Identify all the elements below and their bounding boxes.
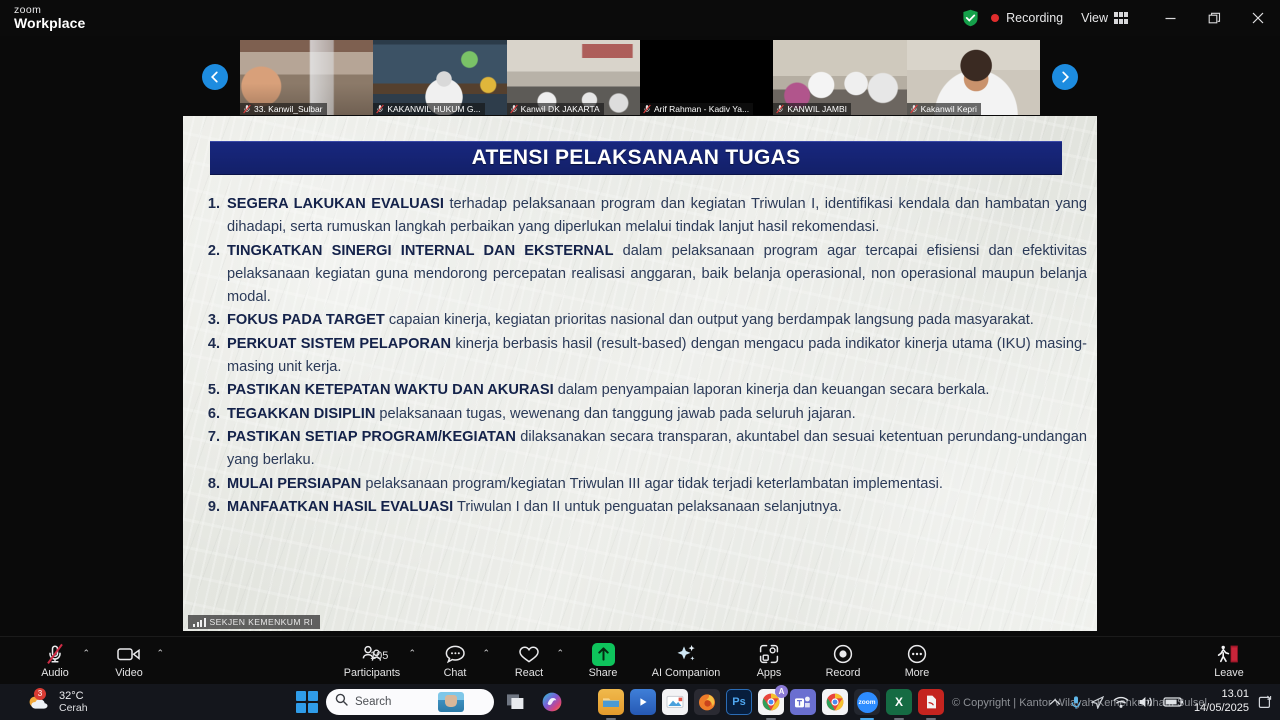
list-item-number: 6. bbox=[197, 403, 227, 426]
list-item-number: 1. bbox=[197, 193, 227, 216]
heart-icon bbox=[518, 643, 540, 665]
search-icon bbox=[335, 693, 348, 711]
window-titlebar: zoom Workplace Recording View bbox=[0, 0, 1280, 36]
microphone-muted-icon bbox=[643, 104, 651, 114]
share-screen-button[interactable]: Share bbox=[566, 637, 640, 685]
participant-name: Arif Rahman - Kadiv Ya... bbox=[654, 104, 749, 114]
list-item: 4. PERKUAT SISTEM PELAPORAN kinerja berb… bbox=[197, 333, 1087, 380]
ai-companion-button[interactable]: AI Companion bbox=[640, 637, 732, 685]
react-button[interactable]: React ⌃ bbox=[492, 637, 566, 685]
notification-bell-icon[interactable] bbox=[1258, 695, 1272, 709]
participant-tile[interactable]: 33. Kanwil_Sulbar bbox=[240, 40, 373, 115]
participant-filmstrip: 33. Kanwil_Sulbar KAKANWIL HUKUM G... bbox=[240, 40, 1040, 115]
meeting-toolbar: Audio ⌃ Video ⌃ bbox=[0, 636, 1280, 684]
video-label: Video bbox=[115, 667, 142, 679]
list-item: 3. FOKUS PADA TARGET capaian kinerja, ke… bbox=[197, 309, 1087, 332]
list-item-number: 8. bbox=[197, 473, 227, 496]
participant-name-badge: Arif Rahman - Kadiv Ya... bbox=[640, 103, 753, 115]
react-label: React bbox=[515, 667, 543, 679]
clock-time: 13.01 bbox=[1194, 688, 1249, 702]
list-item-text: TINGKATKAN SINERGI INTERNAL DAN EKSTERNA… bbox=[227, 240, 1087, 310]
participant-tile[interactable]: KAKANWIL HUKUM G... bbox=[373, 40, 506, 115]
participants-caret-icon[interactable]: ⌃ bbox=[408, 649, 416, 658]
taskbar-center: Search bbox=[296, 684, 566, 720]
list-item-text: SEGERA LAKUKAN EVALUASI terhadap pelaksa… bbox=[227, 193, 1087, 240]
participant-name: 33. Kanwil_Sulbar bbox=[254, 104, 323, 114]
list-item-rest: dalam penyampaian laporan kinerja dan ke… bbox=[554, 382, 990, 398]
atensi-list: 1. SEGERA LAKUKAN EVALUASI terhadap pela… bbox=[197, 193, 1087, 519]
sun-cloud-icon: 3 bbox=[26, 691, 52, 713]
share-screen-icon bbox=[592, 643, 615, 666]
search-input[interactable]: Search bbox=[326, 689, 494, 715]
record-label: Record bbox=[826, 667, 861, 679]
task-view-icon[interactable] bbox=[502, 688, 530, 716]
leave-label: Leave bbox=[1214, 667, 1243, 679]
windows-start-icon[interactable] bbox=[296, 691, 318, 713]
grid-view-icon bbox=[1114, 12, 1128, 24]
restore-window-button[interactable] bbox=[1192, 0, 1236, 36]
taskbar-app-photos[interactable] bbox=[662, 689, 688, 715]
list-item-bold: PERKUAT SISTEM PELAPORAN bbox=[227, 336, 451, 352]
microphone-muted-icon bbox=[776, 104, 784, 114]
participant-name-badge: KANWIL JAMBI bbox=[773, 103, 851, 115]
list-item-rest: pelaksanaan tugas, wewenang dan tanggung… bbox=[375, 406, 855, 422]
windows-taskbar: 3 32°C Cerah Search bbox=[0, 684, 1280, 720]
weather-condition: Cerah bbox=[59, 702, 88, 714]
toolbar-center-group: 105 Participants ⌃ Chat ⌃ bbox=[326, 637, 954, 685]
microphone-muted-icon bbox=[376, 104, 384, 114]
participant-name-badge: 33. Kanwil_Sulbar bbox=[240, 103, 327, 115]
list-item: 9. MANFAATKAN HASIL EVALUASI Triwulan I … bbox=[197, 496, 1087, 519]
microphone-muted-icon bbox=[45, 643, 65, 665]
audio-label: Audio bbox=[41, 667, 69, 679]
taskbar-app-chrome-profile[interactable]: A bbox=[758, 689, 784, 715]
participant-name: Kanwil DK JAKARTA bbox=[521, 104, 600, 114]
chat-button[interactable]: Chat ⌃ bbox=[418, 637, 492, 685]
slide-footer-label: SEKJEN KEMENKUM RI bbox=[210, 617, 314, 627]
participant-name-badge: KAKANWIL HUKUM G... bbox=[373, 103, 484, 115]
leave-meeting-icon bbox=[1217, 643, 1241, 665]
taskbar-app-microsoft-excel[interactable]: X bbox=[886, 689, 912, 715]
list-item-rest: pelaksanaan program/kegiatan Triwulan II… bbox=[361, 476, 943, 492]
participant-name: KAKANWIL HUKUM G... bbox=[387, 104, 480, 114]
participant-tile[interactable]: Kanwil DK JAKARTA bbox=[507, 40, 640, 115]
taskbar-app-microsoft-teams[interactable] bbox=[790, 689, 816, 715]
taskbar-app-zoom[interactable]: zoom bbox=[854, 689, 880, 715]
location-icon[interactable] bbox=[1091, 696, 1104, 709]
more-dots-icon bbox=[907, 643, 927, 665]
audio-button[interactable]: Audio ⌃ bbox=[18, 637, 92, 685]
microphone-muted-icon bbox=[243, 104, 251, 114]
microphone-icon[interactable] bbox=[1070, 695, 1082, 710]
shared-screen-area[interactable]: ATENSI PELAKSANAAN TUGAS 1. SEGERA LAKUK… bbox=[183, 116, 1097, 631]
profile-badge: A bbox=[775, 685, 788, 698]
participants-count: 105 bbox=[370, 650, 388, 662]
zoom-glyph: zoom bbox=[857, 692, 878, 713]
chat-label: Chat bbox=[444, 667, 467, 679]
list-item-bold: MANFAATKAN HASIL EVALUASI bbox=[227, 499, 453, 515]
taskbar-app-icons: Ps A bbox=[598, 684, 944, 720]
participant-name: Kakanwil Kepri bbox=[921, 104, 977, 114]
list-item-rest: capaian kinerja, kegiatan prioritas nasi… bbox=[385, 312, 1034, 328]
list-item-number: 9. bbox=[197, 496, 227, 519]
ai-companion-label: AI Companion bbox=[652, 667, 720, 679]
audio-caret-icon[interactable]: ⌃ bbox=[82, 649, 90, 658]
list-item-bold: TINGKATKAN SINERGI INTERNAL DAN EKSTERNA… bbox=[227, 243, 613, 259]
share-label: Share bbox=[589, 667, 618, 679]
apps-icon bbox=[759, 643, 779, 665]
sparkle-icon bbox=[675, 643, 697, 665]
search-highlight-thumbnail bbox=[438, 692, 464, 712]
participants-label: Participants bbox=[344, 667, 400, 679]
record-button[interactable]: Record bbox=[806, 637, 880, 685]
participant-name-badge: Kanwil DK JAKARTA bbox=[507, 103, 604, 115]
list-item-bold: TEGAKKAN DISIPLIN bbox=[227, 406, 375, 422]
list-item-text: MANFAATKAN HASIL EVALUASI Triwulan I dan… bbox=[227, 496, 1087, 519]
list-item-text: MULAI PERSIAPAN pelaksanaan program/kegi… bbox=[227, 473, 1087, 496]
slide-footer-badge: SEKJEN KEMENKUM RI bbox=[188, 615, 320, 629]
share-icon-wrap bbox=[592, 643, 615, 665]
taskbar-app-pdf-reader[interactable] bbox=[918, 689, 944, 715]
list-item-text: PERKUAT SISTEM PELAPORAN kinerja berbasi… bbox=[227, 333, 1087, 380]
zoom-brand: zoom Workplace bbox=[0, 5, 85, 31]
list-item-bold: PASTIKAN KETEPATAN WAKTU DAN AKURASI bbox=[227, 382, 554, 398]
search-placeholder: Search bbox=[355, 696, 391, 708]
chat-caret-icon[interactable]: ⌃ bbox=[482, 649, 490, 658]
list-item: 6. TEGAKKAN DISIPLIN pelaksanaan tugas, … bbox=[197, 403, 1087, 426]
list-item-bold: FOKUS PADA TARGET bbox=[227, 312, 385, 328]
view-button[interactable]: View bbox=[1081, 11, 1128, 25]
slide-body: 1. SEGERA LAKUKAN EVALUASI terhadap pela… bbox=[197, 193, 1087, 519]
participant-tile[interactable]: Kakanwil Kepri bbox=[907, 40, 1040, 115]
presentation-slide: ATENSI PELAKSANAAN TUGAS 1. SEGERA LAKUK… bbox=[183, 116, 1097, 631]
microphone-muted-icon bbox=[910, 104, 918, 114]
taskbar-app-firefox[interactable] bbox=[694, 689, 720, 715]
slide-title-bar: ATENSI PELAKSANAAN TUGAS bbox=[210, 141, 1062, 175]
weather-temperature: 32°C bbox=[59, 690, 88, 703]
list-item-rest: Triwulan I dan II untuk penguatan pelaks… bbox=[453, 499, 842, 515]
list-item-text: FOKUS PADA TARGET capaian kinerja, kegia… bbox=[227, 309, 1087, 332]
participant-tile[interactable]: Arif Rahman - Kadiv Ya... bbox=[640, 40, 773, 115]
video-caret-icon[interactable]: ⌃ bbox=[156, 649, 164, 658]
taskbar-app-media-player[interactable] bbox=[630, 689, 656, 715]
excel-glyph: X bbox=[895, 695, 903, 709]
list-item-bold: MULAI PERSIAPAN bbox=[227, 476, 361, 492]
system-tray: 13.01 14/05/2025 bbox=[1049, 684, 1272, 720]
taskbar-app-photoshop[interactable]: Ps bbox=[726, 689, 752, 715]
minimize-button[interactable] bbox=[1148, 0, 1192, 36]
shield-check-icon[interactable] bbox=[962, 9, 979, 27]
participant-name: KANWIL JAMBI bbox=[787, 104, 847, 114]
close-button[interactable] bbox=[1236, 0, 1280, 36]
zoom-meeting-window: zoom Workplace Recording View bbox=[0, 0, 1280, 720]
list-item-text: PASTIKAN KETEPATAN WAKTU DAN AKURASI dal… bbox=[227, 379, 1087, 402]
filmstrip-next-button[interactable] bbox=[1052, 64, 1078, 90]
list-item-number: 7. bbox=[197, 426, 227, 449]
list-item-text: PASTIKAN SETIAP PROGRAM/KEGIATAN dilaksa… bbox=[227, 426, 1087, 473]
list-item-number: 3. bbox=[197, 309, 227, 332]
microphone-muted-icon bbox=[510, 104, 518, 114]
record-icon bbox=[833, 643, 853, 665]
participant-tile[interactable]: KANWIL JAMBI bbox=[773, 40, 906, 115]
weather-text: 32°C Cerah bbox=[59, 690, 88, 715]
recording-dot-icon bbox=[991, 14, 999, 22]
clock-date: 14/05/2025 bbox=[1194, 702, 1249, 716]
list-item-bold: PASTIKAN SETIAP PROGRAM/KEGIATAN bbox=[227, 429, 516, 445]
signal-bars-icon bbox=[193, 618, 206, 627]
list-item-bold: SEGERA LAKUKAN EVALUASI bbox=[227, 196, 444, 212]
list-item-number: 2. bbox=[197, 240, 227, 263]
copilot-icon[interactable] bbox=[538, 688, 566, 716]
slide-title-text: ATENSI PELAKSANAAN TUGAS bbox=[472, 146, 801, 170]
video-camera-icon bbox=[117, 643, 141, 665]
video-button[interactable]: Video ⌃ bbox=[92, 637, 166, 685]
taskbar-clock[interactable]: 13.01 14/05/2025 bbox=[1194, 688, 1249, 716]
more-label: More bbox=[905, 667, 930, 679]
list-item: 5. PASTIKAN KETEPATAN WAKTU DAN AKURASI … bbox=[197, 379, 1087, 402]
list-item: 2. TINGKATKAN SINERGI INTERNAL DAN EKSTE… bbox=[197, 240, 1087, 310]
list-item: 8. MULAI PERSIAPAN pelaksanaan program/k… bbox=[197, 473, 1087, 496]
recording-label: Recording bbox=[1006, 11, 1063, 25]
brand-workplace-text: Workplace bbox=[14, 16, 85, 31]
react-caret-icon[interactable]: ⌃ bbox=[556, 649, 564, 658]
weather-widget[interactable]: 3 32°C Cerah bbox=[0, 690, 88, 715]
view-label: View bbox=[1081, 11, 1108, 25]
toolbar-left-group: Audio ⌃ Video ⌃ bbox=[18, 637, 166, 685]
list-item-number: 5. bbox=[197, 379, 227, 402]
toolbar-right-group: Leave bbox=[1192, 637, 1266, 685]
photoshop-glyph: Ps bbox=[732, 696, 745, 708]
apps-button[interactable]: Apps bbox=[732, 637, 806, 685]
participants-button[interactable]: 105 Participants ⌃ bbox=[326, 637, 418, 685]
recording-indicator[interactable]: Recording bbox=[991, 11, 1063, 25]
notification-badge: 3 bbox=[34, 688, 46, 700]
leave-meeting-button[interactable]: Leave bbox=[1192, 637, 1266, 685]
participant-name-badge: Kakanwil Kepri bbox=[907, 103, 981, 115]
list-item: 7. PASTIKAN SETIAP PROGRAM/KEGIATAN dila… bbox=[197, 426, 1087, 473]
hidden-icons-caret[interactable] bbox=[1049, 698, 1061, 707]
apps-label: Apps bbox=[757, 667, 782, 679]
speaker-icon[interactable] bbox=[1138, 695, 1154, 709]
list-item-number: 4. bbox=[197, 333, 227, 356]
titlebar-right-controls: Recording View bbox=[962, 0, 1280, 36]
more-button[interactable]: More bbox=[880, 637, 954, 685]
chat-bubble-icon bbox=[445, 643, 466, 665]
list-item: 1. SEGERA LAKUKAN EVALUASI terhadap pela… bbox=[197, 193, 1087, 240]
taskbar-app-google-chrome[interactable] bbox=[822, 689, 848, 715]
taskbar-app-file-explorer[interactable] bbox=[598, 689, 624, 715]
wifi-icon[interactable] bbox=[1113, 696, 1129, 709]
filmstrip-prev-button[interactable] bbox=[202, 64, 228, 90]
battery-icon[interactable] bbox=[1163, 696, 1185, 708]
list-item-text: TEGAKKAN DISIPLIN pelaksanaan tugas, wew… bbox=[227, 403, 1087, 426]
